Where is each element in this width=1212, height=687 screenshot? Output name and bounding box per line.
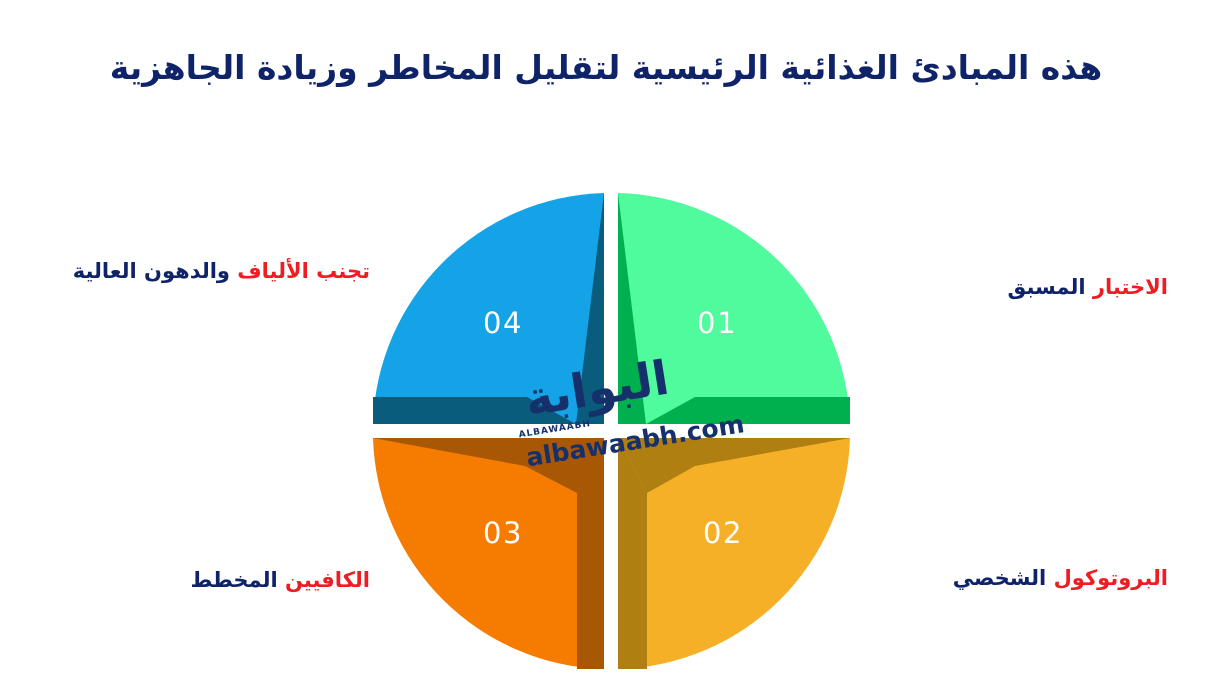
callout-label-02-highlight: البروتوكول [1054,566,1168,590]
pie-slice-01-number: 01 [697,306,737,340]
callout-label-03: الكافيين المخطط [40,567,370,595]
pie-slice-02-number: 02 [703,516,743,550]
pie-slice-02[interactable]: 02 [618,438,850,669]
callout-label-04-rest: والدهون العالية [73,259,230,283]
callout-label-02-rest: الشخصي [953,566,1047,590]
callout-label-04-highlight: تجنب الألياف [237,259,370,283]
callout-label-03-highlight: الكافيين [285,568,370,592]
callout-label-01: الاختبار المسبق [868,274,1168,302]
pie-slice-03[interactable]: 03 [373,438,604,669]
callout-label-02: البروتوكول الشخصي [845,565,1168,593]
pie-slice-04-number: 04 [483,306,523,340]
pie-slice-03-number: 03 [483,516,523,550]
pie-chart: 01 02 03 04 تجن [0,0,1212,686]
pie-slice-04[interactable]: 04 [373,193,604,424]
callout-label-01-rest: المسبق [1008,275,1086,299]
callout-label-01-highlight: الاختبار [1093,275,1168,299]
callout-label-04: تجنب الألياف والدهون العالية [40,258,370,286]
pie-slice-01[interactable]: 01 [618,193,850,424]
pie-chart-svg: 01 02 03 04 [355,175,867,687]
callout-label-03-rest: المخطط [190,568,277,592]
